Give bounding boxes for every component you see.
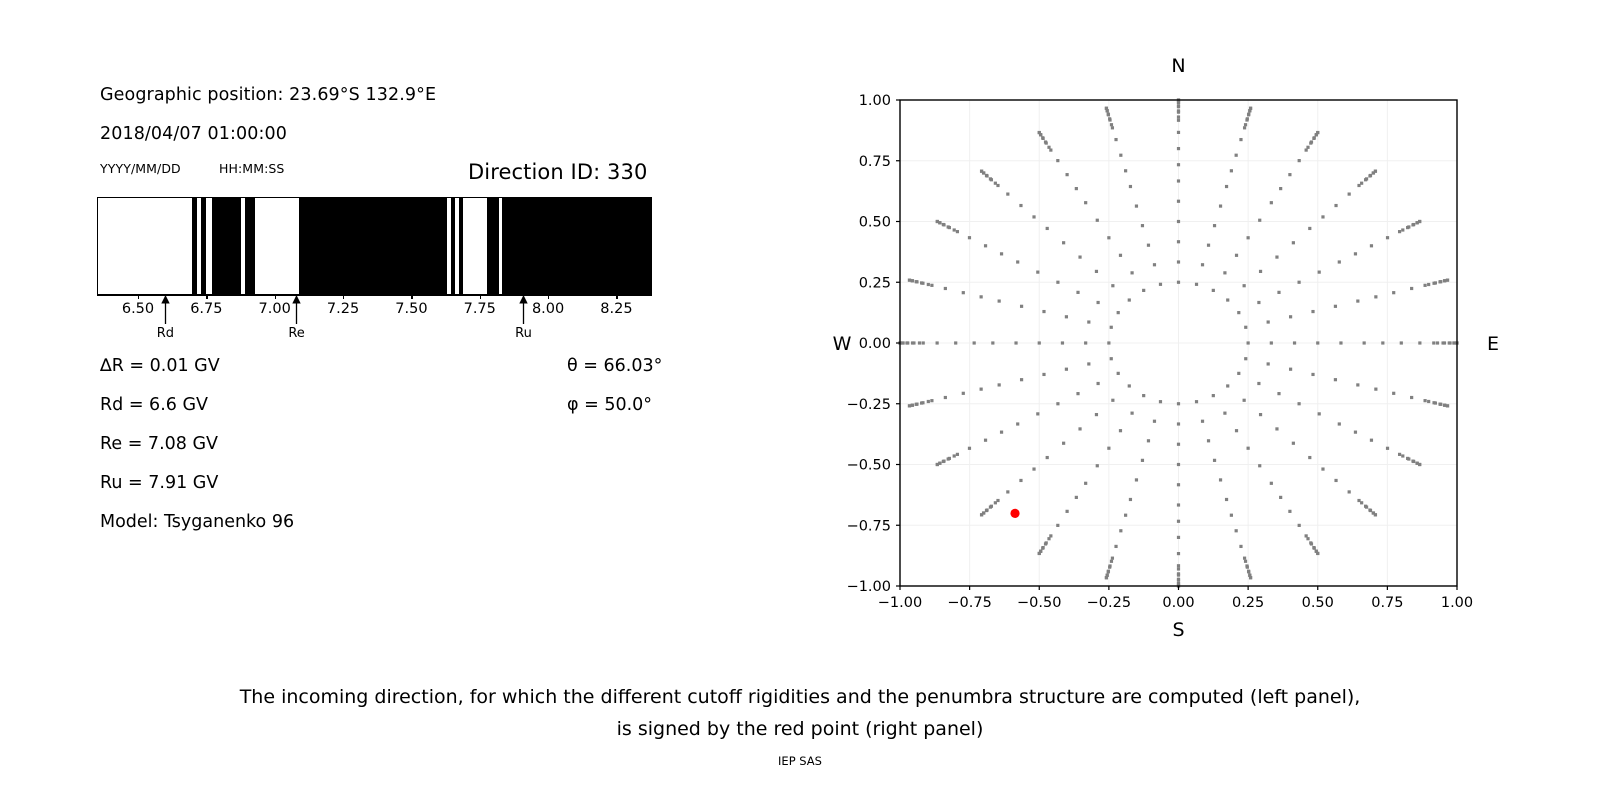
direction-point bbox=[1065, 315, 1068, 318]
direction-point bbox=[947, 457, 950, 460]
direction-point bbox=[1110, 357, 1113, 360]
direction-point bbox=[1177, 443, 1180, 446]
direction-point bbox=[1147, 244, 1150, 247]
direction-point bbox=[930, 284, 933, 287]
axis-tick bbox=[548, 295, 549, 299]
direction-point bbox=[1107, 341, 1110, 344]
direction-point bbox=[1338, 260, 1341, 263]
direction-point bbox=[1056, 524, 1059, 527]
datetime-label: 2018/04/07 01:00:00 bbox=[100, 124, 287, 144]
direction-point bbox=[1105, 576, 1108, 579]
direction-point bbox=[1318, 271, 1321, 274]
direction-point bbox=[1427, 283, 1430, 286]
direction-point bbox=[973, 341, 976, 344]
direction-point bbox=[1363, 341, 1366, 344]
direction-point bbox=[1213, 224, 1216, 227]
direction-point bbox=[1275, 427, 1278, 430]
direction-point bbox=[1321, 215, 1324, 218]
direction-point bbox=[1128, 384, 1131, 387]
direction-point bbox=[1107, 570, 1110, 573]
direction-point bbox=[953, 228, 956, 231]
time-format-hint: HH:MM:SS bbox=[219, 161, 284, 176]
direction-point bbox=[1019, 479, 1022, 482]
direction-point bbox=[1062, 442, 1065, 445]
direction-point bbox=[915, 280, 918, 283]
direction-point bbox=[1410, 396, 1413, 399]
direction-point bbox=[1360, 501, 1363, 504]
direction-point bbox=[1141, 224, 1144, 227]
direction-point bbox=[1142, 394, 1145, 397]
direction-point bbox=[1235, 254, 1238, 257]
y-axis-tick-label: 1.00 bbox=[859, 93, 891, 109]
direction-point bbox=[942, 460, 945, 463]
direction-point bbox=[1401, 454, 1404, 457]
direction-point bbox=[1084, 482, 1087, 485]
x-axis-tick-label: 0.00 bbox=[1162, 595, 1194, 611]
y-axis-tick-label: 0.75 bbox=[859, 154, 891, 170]
direction-point bbox=[1141, 459, 1144, 462]
direction-point bbox=[1316, 552, 1319, 555]
direction-point bbox=[953, 454, 956, 457]
direction-point bbox=[1418, 220, 1421, 223]
rigidity-axis: 6.506.757.007.257.507.758.008.25RdReRu bbox=[97, 295, 652, 355]
direction-point bbox=[1075, 496, 1078, 499]
direction-id-label: Direction ID: 330 bbox=[468, 160, 647, 184]
direction-point bbox=[1076, 392, 1079, 395]
axis-tick bbox=[343, 295, 344, 299]
rigidity-marker-rd: Rd bbox=[150, 295, 180, 341]
direction-point bbox=[1095, 413, 1098, 416]
axis-tick-label: 7.50 bbox=[395, 301, 427, 317]
direction-point bbox=[1310, 542, 1313, 545]
geographic-position-label: Geographic position: 23.69°S 132.9°E bbox=[100, 85, 436, 105]
x-axis-tick-label: −0.75 bbox=[947, 595, 991, 611]
direction-point bbox=[1244, 560, 1247, 563]
caption-line-1: The incoming direction, for which the di… bbox=[0, 681, 1600, 713]
direction-point bbox=[1310, 140, 1313, 143]
direction-point bbox=[954, 341, 957, 344]
direction-point bbox=[1446, 404, 1449, 407]
direction-point bbox=[956, 230, 959, 233]
direction-point bbox=[1237, 372, 1240, 375]
direction-point bbox=[1297, 281, 1300, 284]
direction-point bbox=[1277, 392, 1280, 395]
direction-point bbox=[1020, 378, 1023, 381]
direction-point bbox=[1019, 204, 1022, 207]
direction-point bbox=[985, 509, 988, 512]
direction-point bbox=[1243, 126, 1246, 129]
direction-point bbox=[1107, 447, 1110, 450]
direction-point bbox=[1119, 529, 1122, 532]
direction-point bbox=[1095, 270, 1098, 273]
direction-point bbox=[984, 244, 987, 247]
direction-point bbox=[1135, 204, 1138, 207]
direction-point bbox=[1258, 464, 1261, 467]
direction-point bbox=[1226, 384, 1229, 387]
direction-point bbox=[1223, 271, 1226, 274]
direction-point bbox=[920, 401, 923, 404]
rigidity-marker-label: Ru bbox=[509, 326, 539, 341]
penumbra-bar bbox=[97, 197, 652, 295]
direction-point bbox=[1177, 240, 1180, 243]
direction-point bbox=[1066, 510, 1069, 513]
direction-point bbox=[1374, 388, 1377, 391]
direction-point bbox=[1110, 326, 1113, 329]
direction-point bbox=[1032, 215, 1035, 218]
direction-point bbox=[1243, 557, 1246, 560]
direction-point bbox=[1334, 378, 1337, 381]
figure-footer: IEP SAS bbox=[0, 754, 1600, 768]
direction-point bbox=[1042, 373, 1045, 376]
direction-point bbox=[1239, 545, 1242, 548]
compass-label-north: N bbox=[1171, 55, 1185, 77]
direction-point bbox=[1318, 412, 1321, 415]
direction-point bbox=[1293, 341, 1296, 344]
direction-point bbox=[1374, 170, 1377, 173]
direction-point bbox=[1365, 177, 1368, 180]
direction-point bbox=[1177, 536, 1180, 539]
direction-point bbox=[998, 299, 1001, 302]
direction-point bbox=[1370, 439, 1373, 442]
direction-point bbox=[1177, 109, 1180, 112]
direction-point bbox=[1297, 402, 1300, 405]
direction-point bbox=[1407, 457, 1410, 460]
direction-point bbox=[905, 341, 908, 344]
direction-point bbox=[1244, 326, 1247, 329]
x-axis-tick-label: −0.50 bbox=[1017, 595, 1061, 611]
penumbra-forbidden-band bbox=[502, 198, 652, 294]
direction-point bbox=[1020, 305, 1023, 308]
direction-point bbox=[1213, 459, 1216, 462]
direction-point bbox=[1244, 123, 1247, 126]
direction-point bbox=[1392, 291, 1395, 294]
direction-point bbox=[1257, 382, 1260, 385]
y-axis-tick-label: −0.75 bbox=[847, 518, 891, 534]
direction-point bbox=[1434, 281, 1437, 284]
direction-point bbox=[1313, 547, 1316, 550]
direction-point bbox=[980, 388, 983, 391]
direction-point bbox=[1207, 244, 1210, 247]
direction-point bbox=[936, 463, 939, 466]
direction-point bbox=[1177, 483, 1180, 486]
direction-point bbox=[1177, 131, 1180, 134]
direction-point bbox=[1129, 498, 1132, 501]
direction-point bbox=[1401, 228, 1404, 231]
direction-point bbox=[1207, 439, 1210, 442]
delta-r-readout: ∆R = 0.01 GV bbox=[100, 356, 220, 376]
rigidity-marker-label: Re bbox=[282, 326, 312, 341]
direction-point bbox=[1298, 524, 1301, 527]
direction-point bbox=[1316, 131, 1319, 134]
y-axis-tick-label: −0.50 bbox=[847, 458, 891, 474]
highlighted-direction-point bbox=[1010, 509, 1019, 518]
direction-point bbox=[1311, 310, 1314, 313]
direction-point bbox=[1177, 573, 1180, 576]
direction-point bbox=[1247, 447, 1250, 450]
direction-point bbox=[1044, 542, 1047, 545]
direction-point bbox=[1177, 463, 1180, 466]
direction-point bbox=[1339, 341, 1342, 344]
axis-tick-label: 6.75 bbox=[190, 301, 222, 317]
direction-point bbox=[1135, 478, 1138, 481]
direction-point bbox=[1225, 498, 1228, 501]
direction-point bbox=[911, 341, 914, 344]
direction-point bbox=[1105, 107, 1108, 110]
direction-point bbox=[1046, 456, 1049, 459]
direction-point bbox=[1177, 552, 1180, 555]
figure-caption: The incoming direction, for which the di… bbox=[0, 681, 1600, 745]
direction-point bbox=[1436, 341, 1439, 344]
direction-point bbox=[1316, 341, 1319, 344]
direction-point bbox=[1177, 567, 1180, 570]
direction-point bbox=[1049, 534, 1052, 537]
direction-point bbox=[1219, 478, 1222, 481]
direction-point bbox=[1195, 400, 1198, 403]
sky-map-plot: −1.00−0.75−0.50−0.250.000.250.500.751.00… bbox=[820, 40, 1520, 660]
direction-point bbox=[1096, 219, 1099, 222]
direction-point bbox=[980, 513, 983, 516]
direction-point bbox=[1119, 429, 1122, 432]
direction-point bbox=[1448, 341, 1451, 344]
direction-point bbox=[980, 170, 983, 173]
direction-point bbox=[1056, 281, 1059, 284]
direction-point bbox=[994, 501, 997, 504]
direction-point bbox=[1047, 146, 1050, 149]
direction-point bbox=[1334, 479, 1337, 482]
direction-point bbox=[930, 399, 933, 402]
direction-point bbox=[1223, 412, 1226, 415]
y-axis-tick-label: −0.25 bbox=[847, 397, 891, 413]
direction-point bbox=[1065, 368, 1068, 371]
axis-tick bbox=[206, 295, 207, 299]
direction-point bbox=[1124, 514, 1127, 517]
direction-point bbox=[1338, 422, 1341, 425]
direction-point bbox=[1398, 453, 1401, 456]
direction-point bbox=[1237, 311, 1240, 314]
direction-point bbox=[1398, 230, 1401, 233]
direction-point bbox=[1044, 140, 1047, 143]
direction-point bbox=[1334, 305, 1337, 308]
direction-point bbox=[1177, 119, 1180, 122]
direction-point bbox=[1258, 219, 1261, 222]
arrow-up-icon bbox=[517, 295, 530, 325]
direction-point bbox=[942, 223, 945, 226]
direction-point bbox=[1288, 173, 1291, 176]
direction-point bbox=[1306, 146, 1309, 149]
y-axis-tick-label: 0.50 bbox=[859, 215, 891, 231]
direction-point bbox=[1177, 503, 1180, 506]
direction-point bbox=[1014, 341, 1017, 344]
penumbra-forbidden-band bbox=[459, 198, 463, 294]
direction-point bbox=[1201, 263, 1204, 266]
sky-map-panel: −1.00−0.75−0.50−0.250.000.250.500.751.00… bbox=[820, 40, 1520, 660]
direction-point bbox=[1049, 148, 1052, 151]
direction-point bbox=[1159, 400, 1162, 403]
direction-point bbox=[1270, 201, 1273, 204]
direction-point bbox=[1177, 422, 1180, 425]
arrow-up-icon bbox=[290, 295, 303, 325]
direction-point bbox=[1226, 298, 1229, 301]
direction-point bbox=[1114, 138, 1117, 141]
direction-point bbox=[1370, 244, 1373, 247]
direction-point bbox=[1267, 320, 1270, 323]
direction-point bbox=[1246, 566, 1249, 569]
direction-point bbox=[1369, 174, 1372, 177]
direction-point bbox=[1177, 115, 1180, 118]
theta-readout: θ = 66.03° bbox=[567, 356, 662, 376]
direction-point bbox=[1418, 463, 1421, 466]
direction-point bbox=[944, 396, 947, 399]
axis-tick-label: 6.50 bbox=[122, 301, 154, 317]
direction-point bbox=[1142, 289, 1145, 292]
direction-point bbox=[1249, 107, 1252, 110]
direction-point bbox=[918, 341, 921, 344]
axis-tick-label: 7.75 bbox=[464, 301, 496, 317]
ru-readout: Ru = 7.91 GV bbox=[100, 473, 218, 493]
direction-point bbox=[1219, 204, 1222, 207]
direction-point bbox=[1369, 509, 1372, 512]
direction-point bbox=[1110, 560, 1113, 563]
rigidity-marker-re: Re bbox=[282, 295, 312, 341]
plot-axes: −1.00−0.75−0.50−0.250.000.250.500.751.00… bbox=[847, 93, 1474, 611]
x-axis-tick-label: −1.00 bbox=[878, 595, 922, 611]
direction-point bbox=[1243, 399, 1246, 402]
direction-point bbox=[1062, 241, 1065, 244]
direction-point bbox=[1177, 104, 1180, 107]
direction-point bbox=[1259, 270, 1262, 273]
direction-point bbox=[1356, 299, 1359, 302]
axis-tick bbox=[138, 295, 139, 299]
axis-tick bbox=[275, 295, 276, 299]
direction-point bbox=[1159, 283, 1162, 286]
direction-point bbox=[1108, 117, 1111, 120]
direction-point bbox=[1076, 291, 1079, 294]
direction-point bbox=[1036, 412, 1039, 415]
direction-point bbox=[1381, 341, 1384, 344]
direction-point bbox=[1247, 570, 1250, 573]
direction-point bbox=[1360, 182, 1363, 185]
direction-point bbox=[920, 281, 923, 284]
direction-point bbox=[922, 341, 925, 344]
model-readout: Model: Tsyganenko 96 bbox=[100, 512, 294, 532]
direction-point bbox=[1354, 431, 1357, 434]
direction-point bbox=[1111, 284, 1114, 287]
direction-point bbox=[901, 341, 904, 344]
direction-point bbox=[1016, 260, 1019, 263]
direction-point bbox=[1108, 566, 1111, 569]
direction-point bbox=[1078, 427, 1081, 430]
direction-point bbox=[1097, 382, 1100, 385]
direction-point bbox=[1111, 399, 1114, 402]
direction-point bbox=[1000, 252, 1003, 255]
direction-point bbox=[936, 341, 939, 344]
direction-point bbox=[1289, 315, 1292, 318]
date-format-hint: YYYY/MM/DD bbox=[100, 161, 181, 176]
rigidity-marker-label: Rd bbox=[150, 326, 180, 341]
penumbra-bar-figure bbox=[97, 197, 652, 295]
direction-point bbox=[1412, 460, 1415, 463]
direction-point bbox=[1270, 482, 1273, 485]
direction-point bbox=[1177, 260, 1180, 263]
direction-point bbox=[994, 182, 997, 185]
direction-point bbox=[1177, 220, 1180, 223]
direction-point bbox=[1423, 399, 1426, 402]
direction-point bbox=[1147, 439, 1150, 442]
direction-point bbox=[962, 392, 965, 395]
direction-point bbox=[1177, 179, 1180, 182]
axis-tick-label: 8.25 bbox=[600, 301, 632, 317]
direction-point bbox=[1032, 467, 1035, 470]
direction-point bbox=[1117, 311, 1120, 314]
direction-point bbox=[1225, 185, 1228, 188]
direction-point bbox=[1365, 505, 1368, 508]
direction-point bbox=[1046, 227, 1049, 230]
direction-point bbox=[1097, 301, 1100, 304]
direction-point bbox=[1348, 192, 1351, 195]
direction-point bbox=[1249, 576, 1252, 579]
direction-point bbox=[1267, 362, 1270, 365]
direction-point bbox=[1110, 123, 1113, 126]
direction-point bbox=[1038, 131, 1041, 134]
direction-point bbox=[980, 295, 983, 298]
direction-point bbox=[1279, 187, 1282, 190]
direction-point bbox=[1084, 201, 1087, 204]
direction-point bbox=[1374, 513, 1377, 516]
direction-point bbox=[1201, 420, 1204, 423]
axis-tick bbox=[480, 295, 481, 299]
direction-point bbox=[1313, 136, 1316, 139]
direction-point bbox=[1277, 291, 1280, 294]
x-axis-tick-label: 1.00 bbox=[1441, 595, 1473, 611]
direction-point bbox=[1374, 295, 1377, 298]
direction-point bbox=[1321, 467, 1324, 470]
direction-point bbox=[1235, 154, 1238, 157]
penumbra-forbidden-band bbox=[299, 198, 447, 294]
y-axis-tick-label: −1.00 bbox=[847, 579, 891, 595]
axis-tick-label: 7.25 bbox=[327, 301, 359, 317]
direction-point bbox=[1107, 113, 1110, 116]
compass-label-west: W bbox=[833, 333, 852, 355]
direction-point bbox=[927, 400, 930, 403]
direction-point bbox=[1230, 169, 1233, 172]
direction-point bbox=[1153, 263, 1156, 266]
direction-point bbox=[1275, 255, 1278, 258]
direction-point bbox=[1235, 529, 1238, 532]
compass-label-east: E bbox=[1487, 333, 1499, 355]
direction-point bbox=[1239, 138, 1242, 141]
direction-point bbox=[985, 174, 988, 177]
direction-point bbox=[1111, 126, 1114, 129]
direction-point bbox=[1177, 200, 1180, 203]
direction-point bbox=[1289, 368, 1292, 371]
direction-point bbox=[927, 283, 930, 286]
direction-point bbox=[1259, 413, 1262, 416]
phi-readout: φ = 50.0° bbox=[567, 395, 652, 415]
direction-point bbox=[1119, 154, 1122, 157]
direction-point bbox=[1292, 241, 1295, 244]
direction-point bbox=[989, 177, 992, 180]
direction-point bbox=[1042, 310, 1045, 313]
direction-point bbox=[1392, 392, 1395, 395]
direction-point bbox=[1356, 383, 1359, 386]
direction-point bbox=[1446, 279, 1449, 282]
direction-point bbox=[1407, 225, 1410, 228]
rd-readout: Rd = 6.6 GV bbox=[100, 395, 208, 415]
direction-point bbox=[968, 236, 971, 239]
direction-point bbox=[984, 439, 987, 442]
axis-tick bbox=[411, 295, 412, 299]
direction-point bbox=[1177, 578, 1180, 581]
